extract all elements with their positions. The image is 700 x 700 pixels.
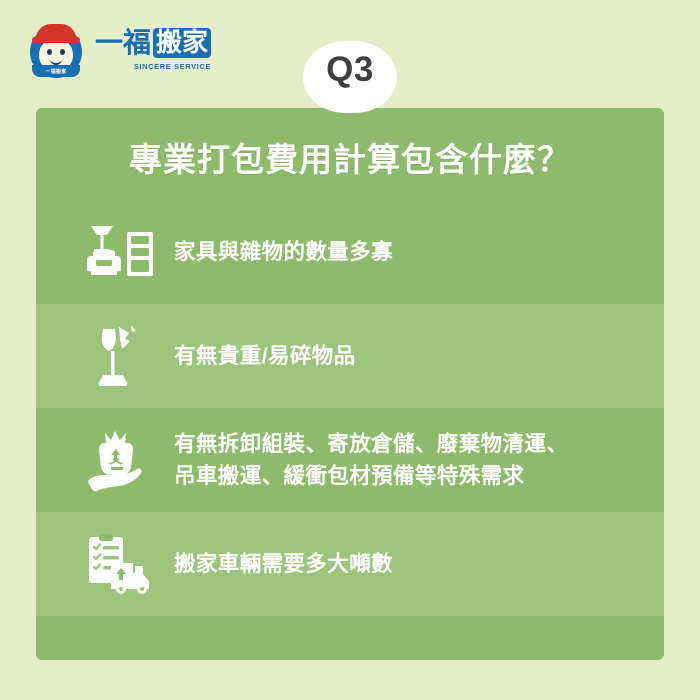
brand-logo: 一福搬家 一福 搬家 SINCERE SERVICE <box>26 18 236 80</box>
answer-list: 家具與雜物的數量多寡 <box>36 200 664 616</box>
question-card: 專業打包費用計算包含什麼？ <box>36 108 664 660</box>
list-item-line: 家具與雜物的數量多寡 <box>174 236 393 268</box>
brand-name-part1: 一福 <box>95 29 151 57</box>
waste-recycle-hand-icon <box>78 424 160 496</box>
question-number-label: Q3 <box>326 52 374 87</box>
list-item: 搬家車輛需要多大噸數 <box>36 512 664 616</box>
broken-glass-icon <box>78 320 160 392</box>
mascot-cap-brim <box>32 37 80 43</box>
list-item-line: 有無貴重/易碎物品 <box>174 340 356 372</box>
question-title: 專業打包費用計算包含什麼？ <box>36 108 664 200</box>
list-item: 有無貴重/易碎物品 <box>36 304 664 408</box>
mascot-smile <box>50 56 62 65</box>
brand-name-part2: 搬家 <box>153 28 211 58</box>
list-item-line: 有無拆卸組裝、寄放倉儲、廢棄物清運、 <box>174 428 568 460</box>
list-item-text: 有無貴重/易碎物品 <box>174 340 356 372</box>
mascot-eye-right <box>60 49 65 55</box>
list-item-line: 搬家車輛需要多大噸數 <box>174 548 393 580</box>
brand-name: 一福 搬家 <box>95 28 211 58</box>
list-item-text: 搬家車輛需要多大噸數 <box>174 548 393 580</box>
mascot-eye-left <box>47 49 52 55</box>
brand-text: 一福 搬家 SINCERE SERVICE <box>95 28 211 71</box>
list-item-text: 有無拆卸組裝、寄放倉儲、廢棄物清運、 吊車搬運、緩衝包材預備等特殊需求 <box>174 428 568 493</box>
list-item-text: 家具與雜物的數量多寡 <box>174 236 393 268</box>
mascot-icon: 一福搬家 <box>26 18 88 80</box>
question-number-badge: Q3 <box>303 41 397 113</box>
brand-tagline: SINCERE SERVICE <box>95 62 211 71</box>
clipboard-truck-icon <box>78 528 160 600</box>
list-item-line: 吊車搬運、緩衝包材預備等特殊需求 <box>174 460 568 492</box>
list-item: 有無拆卸組裝、寄放倉儲、廢棄物清運、 吊車搬運、緩衝包材預備等特殊需求 <box>36 408 664 512</box>
mascot-band-label: 一福搬家 <box>32 65 80 77</box>
furniture-icon <box>78 216 160 288</box>
list-item: 家具與雜物的數量多寡 <box>36 200 664 304</box>
